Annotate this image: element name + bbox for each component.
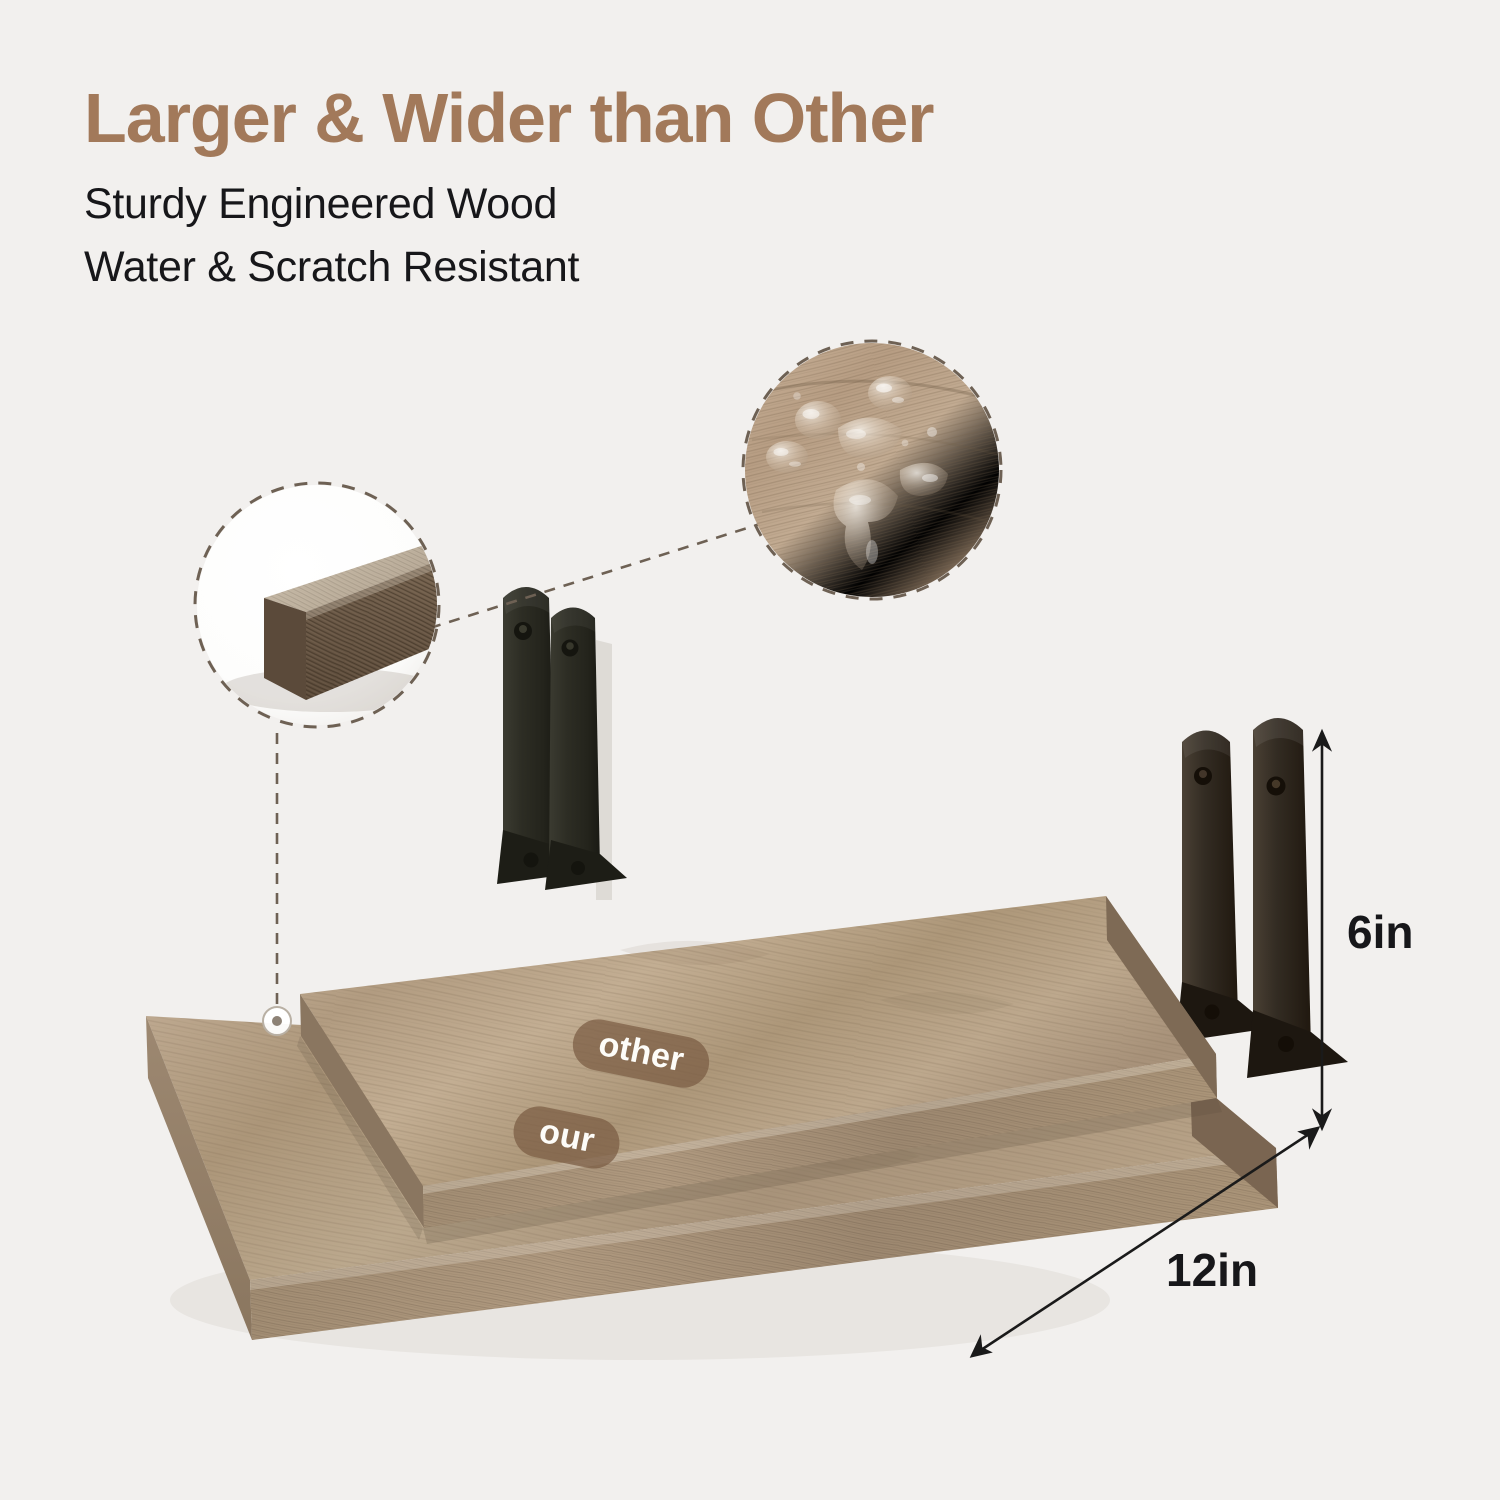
edge-callout-connector bbox=[263, 733, 291, 1035]
infographic-canvas: Larger & Wider than Other Sturdy Enginee… bbox=[0, 0, 1500, 1500]
callout-link-line bbox=[430, 524, 760, 628]
board-edge-closeup bbox=[195, 483, 470, 727]
dimension-height-6in bbox=[1315, 732, 1329, 1128]
bracket-right-b bbox=[1247, 718, 1348, 1078]
product-illustration bbox=[0, 0, 1500, 1500]
bracket-left-pair bbox=[497, 587, 627, 900]
bracket-left-b bbox=[545, 608, 627, 891]
water-resistance-closeup bbox=[743, 341, 1002, 599]
dimension-label-depth: 12in bbox=[1166, 1243, 1258, 1297]
dimension-label-height: 6in bbox=[1347, 905, 1413, 959]
